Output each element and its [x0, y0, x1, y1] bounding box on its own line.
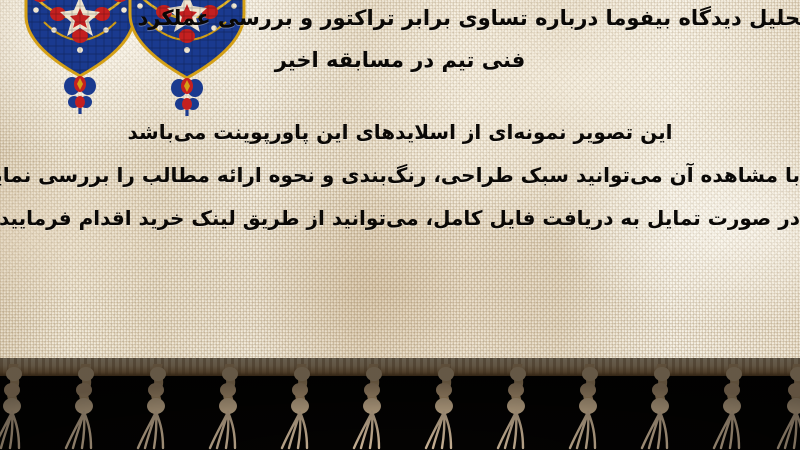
slide-title-line-2: فنی تیم در مسابقه اخیر: [0, 48, 800, 72]
fringe-tassel: [560, 364, 620, 450]
fringe-tassel: [416, 364, 476, 450]
fringe-tassel: [0, 364, 44, 450]
carpet-fringe-band: [0, 358, 800, 450]
fringe-tassel: [632, 364, 692, 450]
fringe-tassel: [272, 364, 332, 450]
slide-body-line-1: این تصویر نمونه‌ای از اسلایدهای این پاور…: [0, 120, 800, 144]
fringe-tassel: [344, 364, 404, 450]
presentation-slide: تحلیل دیدگاه بیفوما درباره تساوی برابر ت…: [0, 0, 800, 450]
slide-body-line-2: با مشاهده آن می‌توانید سبک طراحی، رنگ‌بن…: [0, 163, 800, 187]
fringe-tassel: [128, 364, 188, 450]
fringe-tassel: [704, 364, 764, 450]
slide-title-line-1: تحلیل دیدگاه بیفوما درباره تساوی برابر ت…: [137, 6, 800, 30]
fringe-tassel: [768, 364, 800, 450]
fringe-tassel: [56, 364, 116, 450]
slide-body-line-3: در صورت تمایل به دریافت فایل کامل، می‌تو…: [0, 206, 800, 230]
fringe-tassel: [200, 364, 260, 450]
fringe-tassel: [488, 364, 548, 450]
slide-text-layer: تحلیل دیدگاه بیفوما درباره تساوی برابر ت…: [0, 0, 800, 372]
